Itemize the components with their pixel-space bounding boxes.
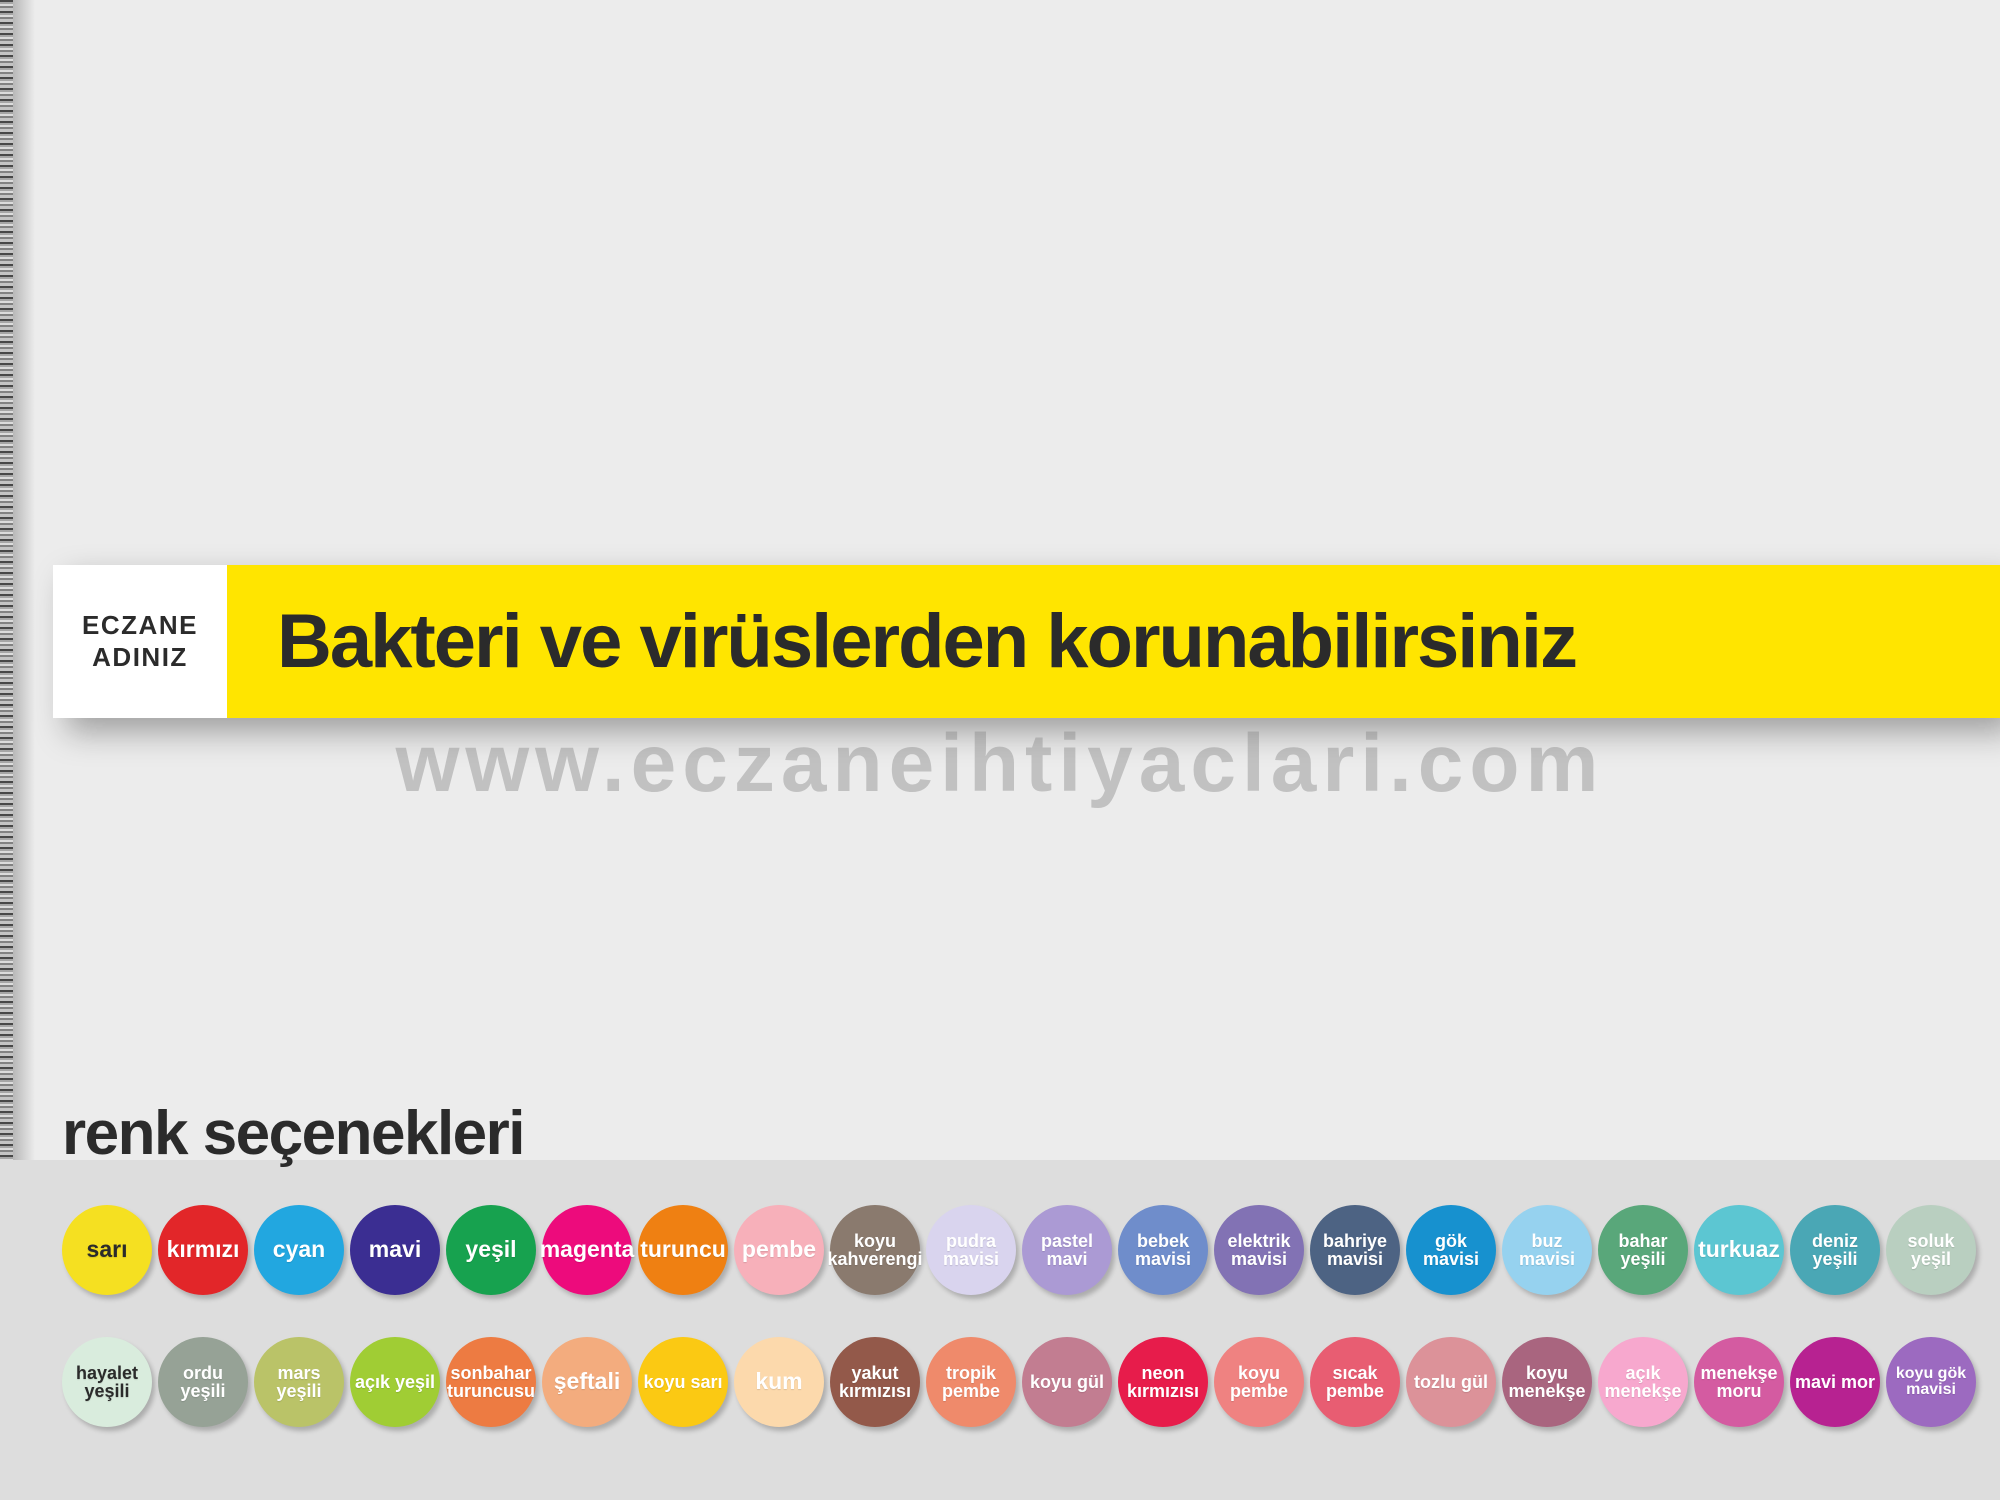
color-swatch[interactable]: neon kırmızısı <box>1118 1337 1208 1427</box>
color-swatch[interactable]: turuncu <box>638 1205 728 1295</box>
color-swatch-label: turuncu <box>637 1238 729 1261</box>
color-swatch[interactable]: koyu sarı <box>638 1337 728 1427</box>
color-swatch[interactable]: magenta <box>542 1205 632 1295</box>
color-swatch[interactable]: pudra mavisi <box>926 1205 1016 1295</box>
color-swatch-label: bebek mavisi <box>1118 1232 1208 1269</box>
color-swatch-label: ordu yeşili <box>158 1364 248 1401</box>
color-swatch[interactable]: cyan <box>254 1205 344 1295</box>
color-swatch[interactable]: soluk yeşil <box>1886 1205 1976 1295</box>
color-swatch-label: koyu menekşe <box>1502 1364 1592 1401</box>
color-swatch[interactable]: pastel mavi <box>1022 1205 1112 1295</box>
banner-headline: Bakteri ve virüslerden korunabilirsiniz <box>277 604 1576 680</box>
color-swatch-label: yeşil <box>462 1238 519 1261</box>
color-swatch-label: kum <box>752 1370 805 1393</box>
color-swatch-label: cyan <box>270 1238 328 1261</box>
color-swatch[interactable]: koyu kahverengi <box>830 1205 920 1295</box>
color-swatch[interactable]: tozlu gül <box>1406 1337 1496 1427</box>
color-swatch-label: koyu gök mavisi <box>1886 1366 1976 1399</box>
color-swatch-label: açık menekşe <box>1598 1364 1688 1401</box>
color-swatch-label: yakut kırmızısı <box>830 1364 920 1401</box>
color-swatch-label: magenta <box>537 1238 638 1261</box>
color-swatch-label: şeftali <box>551 1370 623 1393</box>
color-swatch-label: bahriye mavisi <box>1310 1232 1400 1269</box>
color-swatch-label: menekşe moru <box>1694 1364 1784 1401</box>
color-swatch-label: gök mavisi <box>1406 1232 1496 1269</box>
color-swatch[interactable]: sarı <box>62 1205 152 1295</box>
color-swatch[interactable]: yeşil <box>446 1205 536 1295</box>
color-swatch[interactable]: bahar yeşili <box>1598 1205 1688 1295</box>
color-swatch-label: elektrik mavisi <box>1214 1232 1304 1269</box>
color-swatch[interactable]: elektrik mavisi <box>1214 1205 1304 1295</box>
color-swatch[interactable]: yakut kırmızısı <box>830 1337 920 1427</box>
color-swatch[interactable]: açık menekşe <box>1598 1337 1688 1427</box>
color-swatch[interactable]: mars yeşili <box>254 1337 344 1427</box>
color-swatch-label: sonbahar turuncusu <box>444 1364 538 1401</box>
pharmacy-logo-box: ECZANE ADINIZ <box>53 565 227 718</box>
color-swatch[interactable]: deniz yeşili <box>1790 1205 1880 1295</box>
color-swatch-label: koyu sarı <box>640 1373 725 1391</box>
color-swatch[interactable]: kırmızı <box>158 1205 248 1295</box>
color-swatch-label: soluk yeşil <box>1886 1232 1976 1269</box>
color-swatch-label: koyu kahverengi <box>824 1232 925 1269</box>
color-swatch-label: sarı <box>84 1238 131 1261</box>
color-swatch-label: deniz yeşili <box>1790 1232 1880 1269</box>
poster-canvas: ECZANE ADINIZ Bakteri ve virüslerden kor… <box>0 0 2000 1500</box>
color-swatch-label: mars yeşili <box>254 1364 344 1401</box>
color-swatch[interactable]: koyu gök mavisi <box>1886 1337 1976 1427</box>
color-swatch[interactable]: kum <box>734 1337 824 1427</box>
color-options-title: renk seçenekleri <box>62 1103 524 1165</box>
color-swatch-label: pembe <box>739 1238 819 1261</box>
color-swatch-label: pastel mavi <box>1022 1232 1112 1269</box>
color-swatch[interactable]: sonbahar turuncusu <box>446 1337 536 1427</box>
site-watermark: www.eczaneihtiyaclari.com <box>0 717 2000 811</box>
color-swatch-row-2: hayalet yeşiliordu yeşilimars yeşiliaçık… <box>62 1337 1976 1427</box>
color-swatch-label: hayalet yeşili <box>62 1364 152 1401</box>
color-swatch[interactable]: gök mavisi <box>1406 1205 1496 1295</box>
color-swatch[interactable]: koyu pembe <box>1214 1337 1304 1427</box>
color-swatch-label: buz mavisi <box>1502 1232 1592 1269</box>
color-swatch[interactable]: hayalet yeşili <box>62 1337 152 1427</box>
color-swatch-label: tropik pembe <box>926 1364 1016 1401</box>
color-swatch-label: koyu pembe <box>1214 1364 1304 1401</box>
color-swatch[interactable]: koyu gül <box>1022 1337 1112 1427</box>
color-swatch[interactable]: pembe <box>734 1205 824 1295</box>
color-swatch-label: açık yeşil <box>352 1373 438 1391</box>
color-swatch[interactable]: turkuaz <box>1694 1205 1784 1295</box>
logo-line-eczane: ECZANE <box>82 610 198 642</box>
color-swatch[interactable]: bahriye mavisi <box>1310 1205 1400 1295</box>
color-swatch[interactable]: sıcak pembe <box>1310 1337 1400 1427</box>
color-swatch[interactable]: açık yeşil <box>350 1337 440 1427</box>
color-swatch-label: mavi <box>366 1238 424 1261</box>
color-swatch-label: kırmızı <box>164 1238 243 1261</box>
logo-line-adiniz: ADINIZ <box>92 642 188 674</box>
banner-headline-area: Bakteri ve virüslerden korunabilirsiniz <box>227 565 2000 718</box>
color-swatch-label: turkuaz <box>1695 1238 1783 1261</box>
color-swatch[interactable]: bebek mavisi <box>1118 1205 1208 1295</box>
color-swatch-row-1: sarıkırmızıcyanmaviyeşilmagentaturuncupe… <box>62 1205 1976 1295</box>
color-swatch[interactable]: tropik pembe <box>926 1337 1016 1427</box>
color-swatch-label: neon kırmızısı <box>1118 1364 1208 1401</box>
color-swatch[interactable]: mavi mor <box>1790 1337 1880 1427</box>
color-swatch[interactable]: mavi <box>350 1205 440 1295</box>
color-swatch-label: mavi mor <box>1792 1373 1878 1391</box>
color-swatch-label: pudra mavisi <box>926 1232 1016 1269</box>
color-swatch[interactable]: koyu menekşe <box>1502 1337 1592 1427</box>
color-swatch[interactable]: buz mavisi <box>1502 1205 1592 1295</box>
color-swatch[interactable]: şeftali <box>542 1337 632 1427</box>
color-swatch-label: koyu gül <box>1027 1373 1107 1391</box>
banner: ECZANE ADINIZ Bakteri ve virüslerden kor… <box>53 565 2000 718</box>
color-swatch-label: bahar yeşili <box>1598 1232 1688 1269</box>
color-swatch[interactable]: menekşe moru <box>1694 1337 1784 1427</box>
color-swatch-label: tozlu gül <box>1411 1373 1491 1391</box>
color-swatch[interactable]: ordu yeşili <box>158 1337 248 1427</box>
color-swatch-label: sıcak pembe <box>1310 1364 1400 1401</box>
